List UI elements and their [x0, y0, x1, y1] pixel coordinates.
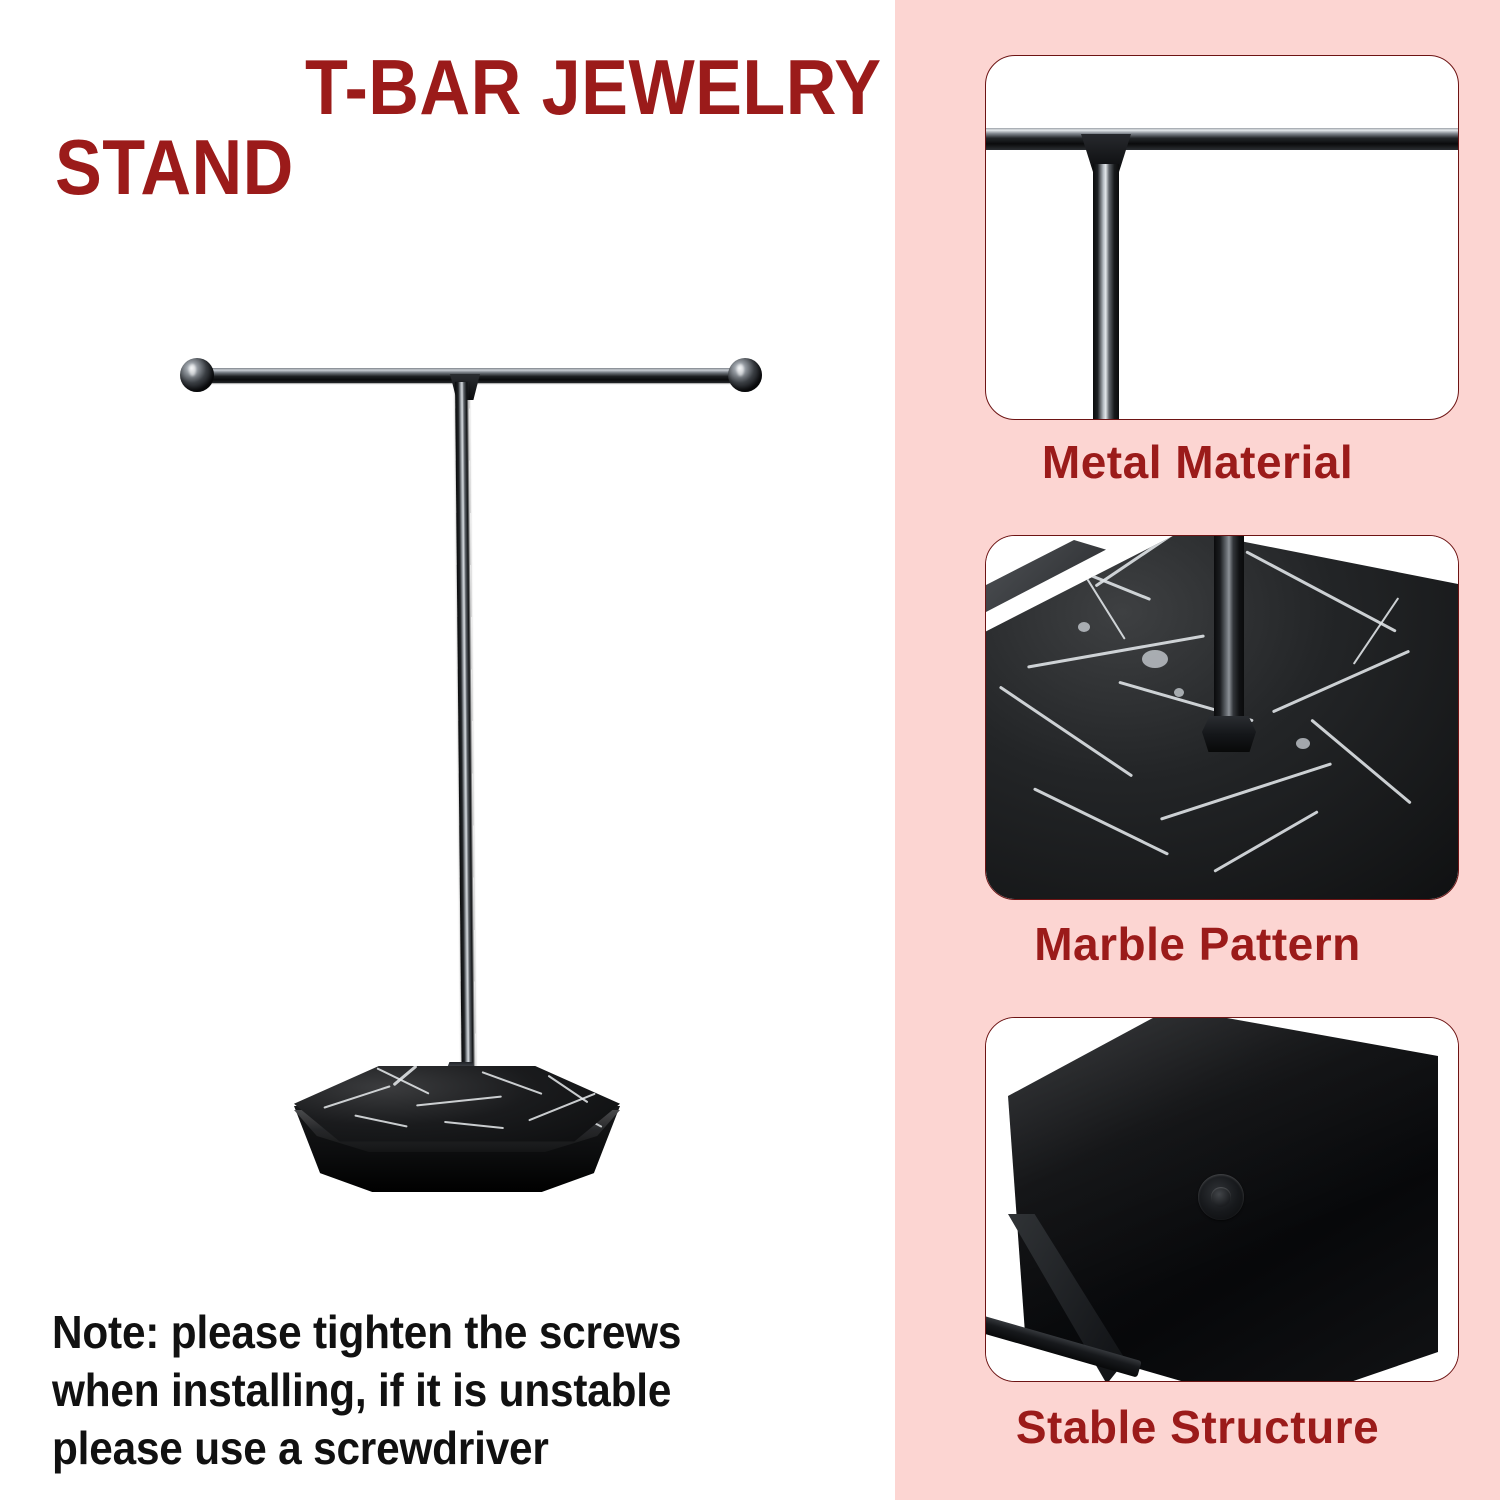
hexagon-marble-base	[282, 1058, 632, 1198]
metal-post-closeup	[1093, 164, 1119, 420]
installation-note: Note: please tighten the screws when ins…	[52, 1304, 788, 1478]
feature-card-marble-pattern	[985, 535, 1459, 900]
product-infographic: T-BAR JEWELRY STAND	[0, 0, 1500, 1500]
feature-card-metal-material	[985, 55, 1459, 420]
feature-card-stable-structure	[985, 1017, 1459, 1382]
product-hero-image	[0, 300, 895, 1240]
feature-label-metal-material: Metal Material	[895, 435, 1500, 489]
page-title-line-1: T-BAR JEWELRY	[305, 48, 882, 126]
feature-label-marble-pattern: Marble Pattern	[895, 917, 1500, 971]
marble-card-hex-nut	[1202, 716, 1256, 752]
metal-bar-closeup	[985, 128, 1459, 150]
left-panel: T-BAR JEWELRY STAND	[0, 0, 895, 1500]
page-title-line-2: STAND	[55, 128, 294, 206]
features-panel: Metal Material	[895, 0, 1500, 1500]
ball-finial-left-icon	[180, 358, 214, 392]
base-marble-surface	[294, 1066, 620, 1148]
vertical-post	[455, 382, 476, 1082]
marble-card-post	[1214, 535, 1244, 746]
feature-label-stable-structure: Stable Structure	[895, 1400, 1500, 1454]
ball-finial-right-icon	[728, 358, 762, 392]
center-screw-icon	[1198, 1174, 1244, 1220]
